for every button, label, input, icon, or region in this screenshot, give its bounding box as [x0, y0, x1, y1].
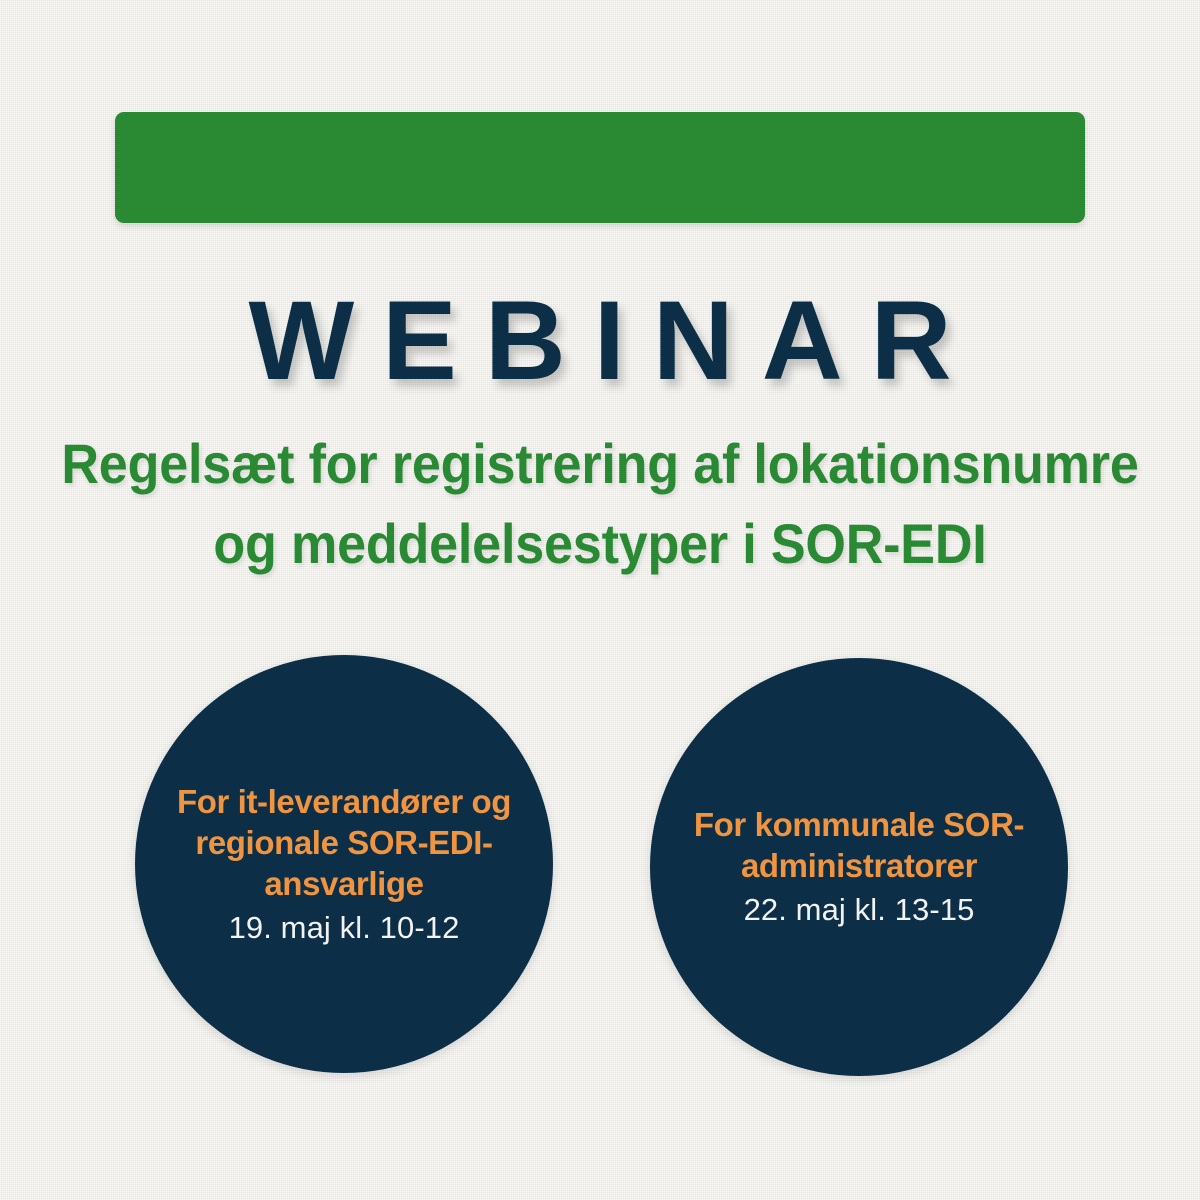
- audience-circle-municipal-time: 22. maj kl. 13-15: [744, 890, 975, 930]
- green-banner-bar: [115, 112, 1085, 223]
- audience-circle-suppliers-title: For it-leverandører og regionale SOR-EDI…: [173, 781, 515, 904]
- audience-circle-municipal-title: For kommunale SOR-administratorer: [688, 804, 1030, 886]
- audience-circle-suppliers-time: 19. maj kl. 10-12: [229, 908, 460, 948]
- subtitle-line-2: og meddelelsestyper i SOR-EDI: [42, 504, 1158, 584]
- subtitle: Regelsæt for registrering af lokationsnu…: [0, 424, 1200, 584]
- webinar-poster: WEBINAR Regelsæt for registrering af lok…: [0, 0, 1200, 1200]
- page-title: WEBINAR: [0, 282, 1200, 400]
- audience-circle-suppliers: For it-leverandører og regionale SOR-EDI…: [135, 655, 553, 1073]
- subtitle-line-1: Regelsæt for registrering af lokationsnu…: [42, 424, 1158, 504]
- audience-circle-municipal: For kommunale SOR-administratorer 22. ma…: [650, 658, 1068, 1076]
